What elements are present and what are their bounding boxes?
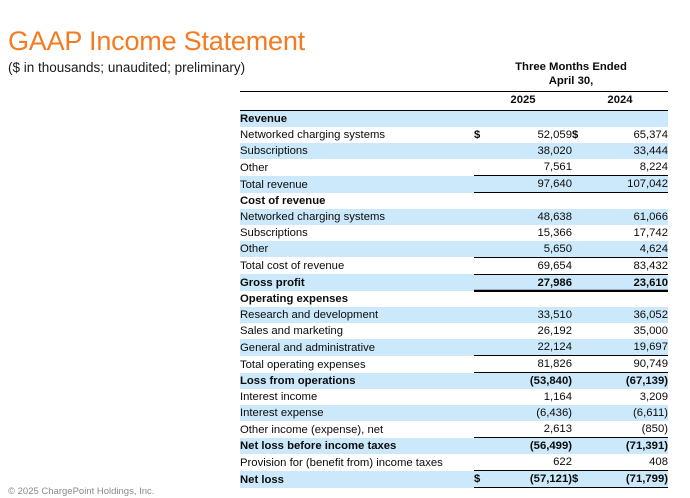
- row-label: Other: [240, 241, 474, 258]
- currency-symbol-2024: $: [572, 471, 586, 488]
- value-2024: (850): [586, 421, 668, 438]
- currency-symbol-2025: [474, 323, 488, 339]
- value-2025: 69,654: [488, 257, 572, 274]
- row-label: Research and development: [240, 307, 474, 323]
- table-row: Revenue: [240, 111, 668, 128]
- copyright-footer: © 2025 ChargePoint Holdings, Inc.: [8, 486, 154, 497]
- row-label: General and administrative: [240, 339, 474, 356]
- row-label: Networked charging systems: [240, 127, 474, 143]
- currency-symbol-2025: [474, 291, 488, 307]
- currency-symbol-2025: [474, 274, 488, 291]
- table-row: Subscriptions15,36617,742: [240, 225, 668, 241]
- currency-symbol-2025: $: [474, 127, 488, 143]
- income-statement-table: Three Months Ended April 30, 2025 2024 R…: [240, 60, 668, 488]
- header-period-line2: April 30,: [474, 74, 668, 88]
- value-2025: 26,192: [488, 323, 572, 339]
- table-row: Total cost of revenue69,65483,432: [240, 257, 668, 274]
- row-label: Revenue: [240, 111, 474, 128]
- value-2025: 81,826: [488, 356, 572, 373]
- currency-symbol-2024: [572, 257, 586, 274]
- currency-symbol-2025: [474, 159, 488, 176]
- currency-symbol-2025: [474, 438, 488, 455]
- currency-symbol-2025: [474, 241, 488, 258]
- table-row: Net loss$(57,121)$(71,799): [240, 471, 668, 488]
- currency-symbol-2025: $: [474, 471, 488, 488]
- header-year-2024: 2024: [572, 91, 668, 108]
- currency-symbol-2025: [474, 356, 488, 373]
- row-label: Interest expense: [240, 405, 474, 421]
- row-label: Interest income: [240, 389, 474, 405]
- row-label: Other income (expense), net: [240, 421, 474, 438]
- row-label: Loss from operations: [240, 373, 474, 390]
- value-2025: [488, 291, 572, 307]
- currency-symbol-2024: [572, 274, 586, 291]
- currency-symbol-2025: [474, 405, 488, 421]
- table-row: General and administrative22,12419,697: [240, 339, 668, 356]
- value-2024: 4,624: [586, 241, 668, 258]
- row-label: Net loss before income taxes: [240, 438, 474, 455]
- value-2024: (6,611): [586, 405, 668, 421]
- value-2024: 33,444: [586, 143, 668, 159]
- row-label: Networked charging systems: [240, 209, 474, 225]
- currency-symbol-2025: [474, 257, 488, 274]
- header-period-row: Three Months Ended: [240, 60, 668, 74]
- currency-symbol-2024: [572, 454, 586, 471]
- table-row: Operating expenses: [240, 291, 668, 307]
- header-period-line1: Three Months Ended: [474, 60, 668, 74]
- currency-symbol-2024: [572, 111, 586, 128]
- value-2025: (6,436): [488, 405, 572, 421]
- value-2024: (71,799): [586, 471, 668, 488]
- table-row: Total operating expenses81,82690,749: [240, 356, 668, 373]
- currency-symbol-2025: [474, 176, 488, 193]
- value-2025: 97,640: [488, 176, 572, 193]
- income-statement-page: GAAP Income Statement ($ in thousands; u…: [0, 0, 690, 498]
- currency-symbol-2025: [474, 307, 488, 323]
- currency-symbol-2025: [474, 193, 488, 209]
- currency-symbol-2024: [572, 159, 586, 176]
- value-2025: 22,124: [488, 339, 572, 356]
- page-title: GAAP Income Statement: [8, 26, 305, 56]
- currency-symbol-2024: [572, 291, 586, 307]
- table-row: Loss from operations(53,840)(67,139): [240, 373, 668, 390]
- row-label: Net loss: [240, 471, 474, 488]
- value-2024: 23,610: [586, 274, 668, 291]
- value-2024: 65,374: [586, 127, 668, 143]
- value-2025: 52,059: [488, 127, 572, 143]
- currency-symbol-2024: $: [572, 127, 586, 143]
- header-period-row2: April 30,: [240, 74, 668, 88]
- currency-symbol-2024: [572, 307, 586, 323]
- currency-symbol-2025: [474, 373, 488, 390]
- value-2025: 15,366: [488, 225, 572, 241]
- row-label: Sales and marketing: [240, 323, 474, 339]
- currency-symbol-2024: [572, 421, 586, 438]
- currency-symbol-2024: [572, 225, 586, 241]
- value-2025: 48,638: [488, 209, 572, 225]
- table-row: Interest expense(6,436)(6,611): [240, 405, 668, 421]
- row-label: Total revenue: [240, 176, 474, 193]
- value-2024: 19,697: [586, 339, 668, 356]
- currency-symbol-2024: [572, 193, 586, 209]
- value-2024: (71,391): [586, 438, 668, 455]
- header-year-row: 2025 2024: [240, 91, 668, 108]
- value-2024: 8,224: [586, 159, 668, 176]
- table-row: Other5,6504,624: [240, 241, 668, 258]
- value-2025: 5,650: [488, 241, 572, 258]
- currency-symbol-2024: [572, 143, 586, 159]
- row-label: Total cost of revenue: [240, 257, 474, 274]
- value-2024: 107,042: [586, 176, 668, 193]
- row-label: Gross profit: [240, 274, 474, 291]
- currency-symbol-2025: [474, 111, 488, 128]
- table-header: Three Months Ended April 30, 2025 2024: [240, 60, 668, 111]
- value-2025: (56,499): [488, 438, 572, 455]
- row-label: Total operating expenses: [240, 356, 474, 373]
- value-2024: 3,209: [586, 389, 668, 405]
- value-2024: (67,139): [586, 373, 668, 390]
- value-2024: 36,052: [586, 307, 668, 323]
- currency-symbol-2024: [572, 209, 586, 225]
- value-2024: 83,432: [586, 257, 668, 274]
- table-row: Subscriptions38,02033,444: [240, 143, 668, 159]
- currency-symbol-2025: [474, 389, 488, 405]
- table-row: Cost of revenue: [240, 193, 668, 209]
- table-row: Networked charging systems48,63861,066: [240, 209, 668, 225]
- table-row: Net loss before income taxes(56,499)(71,…: [240, 438, 668, 455]
- value-2024: 90,749: [586, 356, 668, 373]
- value-2024: [586, 291, 668, 307]
- table-row: Other7,5618,224: [240, 159, 668, 176]
- row-label: Subscriptions: [240, 143, 474, 159]
- currency-symbol-2024: [572, 389, 586, 405]
- row-label: Cost of revenue: [240, 193, 474, 209]
- value-2024: 408: [586, 454, 668, 471]
- currency-symbol-2025: [474, 143, 488, 159]
- table-row: Sales and marketing26,19235,000: [240, 323, 668, 339]
- table-body: RevenueNetworked charging systems$52,059…: [240, 111, 668, 488]
- currency-symbol-2024: [572, 356, 586, 373]
- value-2025: [488, 111, 572, 128]
- table-row: Provision for (benefit from) income taxe…: [240, 454, 668, 471]
- currency-symbol-2025: [474, 421, 488, 438]
- value-2025: 7,561: [488, 159, 572, 176]
- table-row: Gross profit27,98623,610: [240, 274, 668, 291]
- table-row: Networked charging systems$52,059$65,374: [240, 127, 668, 143]
- row-label: Other: [240, 159, 474, 176]
- currency-symbol-2025: [474, 225, 488, 241]
- currency-symbol-2024: [572, 339, 586, 356]
- currency-symbol-2024: [572, 373, 586, 390]
- currency-symbol-2024: [572, 438, 586, 455]
- currency-symbol-2025: [474, 339, 488, 356]
- value-2025: (53,840): [488, 373, 572, 390]
- value-2024: [586, 111, 668, 128]
- value-2025: 622: [488, 454, 572, 471]
- row-label: Operating expenses: [240, 291, 474, 307]
- table-row: Interest income1,1643,209: [240, 389, 668, 405]
- value-2024: 17,742: [586, 225, 668, 241]
- currency-symbol-2025: [474, 209, 488, 225]
- value-2025: 1,164: [488, 389, 572, 405]
- value-2024: 61,066: [586, 209, 668, 225]
- value-2024: [586, 193, 668, 209]
- value-2025: 27,986: [488, 274, 572, 291]
- value-2025: 2,613: [488, 421, 572, 438]
- table-row: Other income (expense), net2,613(850): [240, 421, 668, 438]
- value-2025: (57,121): [488, 471, 572, 488]
- table-row: Total revenue97,640107,042: [240, 176, 668, 193]
- row-label: Subscriptions: [240, 225, 474, 241]
- value-2025: 33,510: [488, 307, 572, 323]
- value-2024: 35,000: [586, 323, 668, 339]
- table-row: Research and development33,51036,052: [240, 307, 668, 323]
- value-2025: [488, 193, 572, 209]
- currency-symbol-2024: [572, 176, 586, 193]
- currency-symbol-2024: [572, 405, 586, 421]
- currency-symbol-2024: [572, 323, 586, 339]
- currency-symbol-2024: [572, 241, 586, 258]
- value-2025: 38,020: [488, 143, 572, 159]
- row-label: Provision for (benefit from) income taxe…: [240, 454, 474, 471]
- header-year-2025: 2025: [474, 91, 572, 108]
- currency-symbol-2025: [474, 454, 488, 471]
